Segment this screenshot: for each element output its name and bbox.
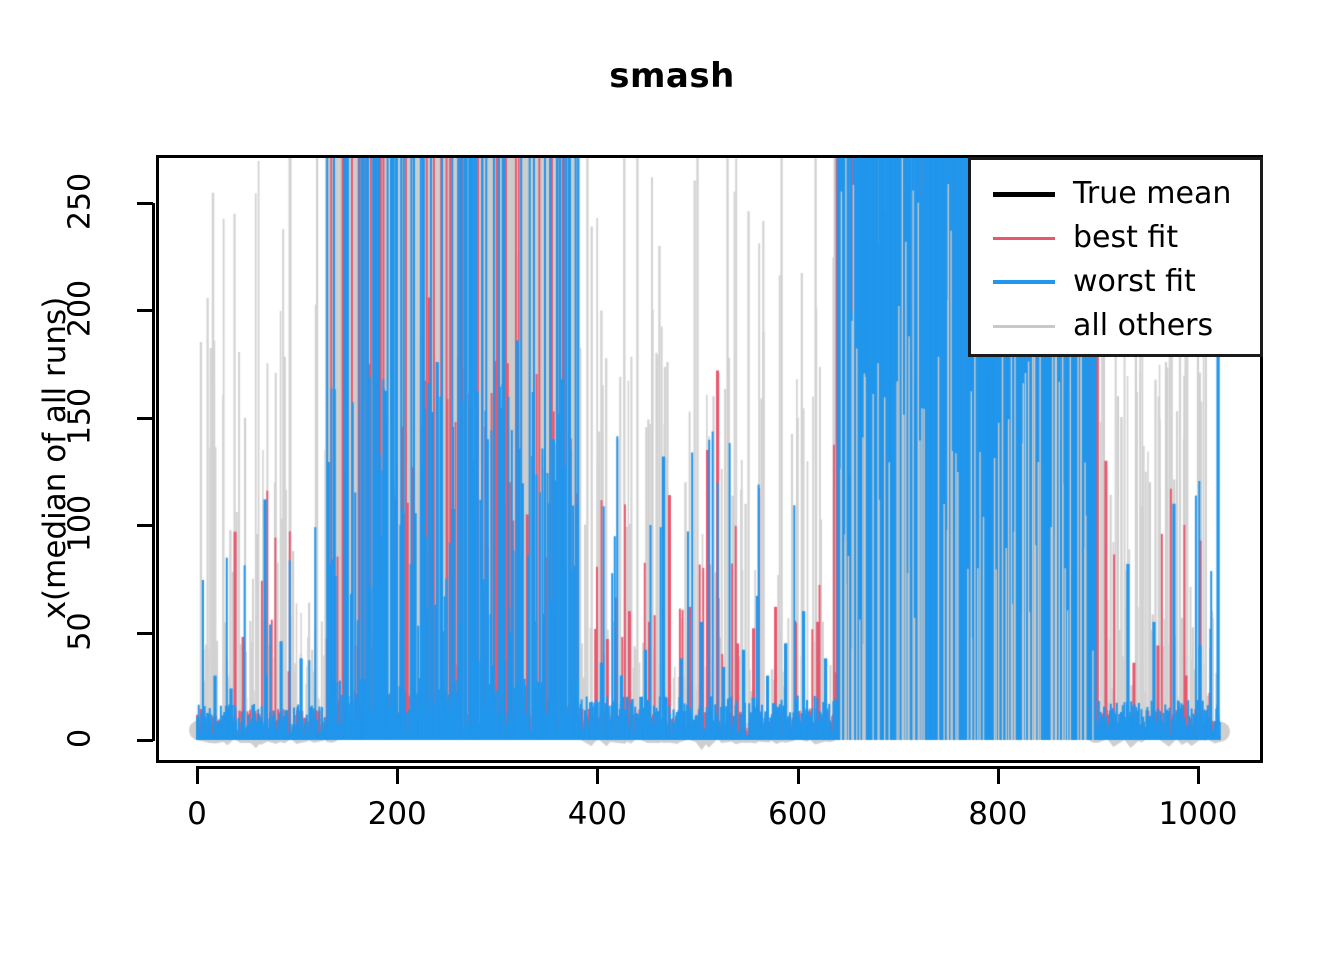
y-tick-label: 0	[63, 679, 98, 799]
y-tick	[137, 739, 153, 742]
legend-swatch-icon	[993, 237, 1055, 240]
x-tick-label: 1000	[1128, 796, 1268, 832]
legend-item-all-others: all others	[971, 304, 1260, 348]
y-axis-line	[152, 203, 155, 741]
x-tick	[997, 766, 1000, 784]
x-tick	[396, 766, 399, 784]
y-axis-title: x(median of all runs)	[37, 248, 73, 668]
y-tick	[137, 309, 153, 312]
x-tick	[797, 766, 800, 784]
x-tick	[596, 766, 599, 784]
x-tick-label: 200	[327, 796, 467, 832]
legend-swatch-icon	[993, 280, 1055, 284]
x-axis-line	[197, 766, 1199, 769]
chart-figure: smash 050100150200250 x(median of all ru…	[0, 0, 1344, 960]
x-tick	[1197, 766, 1200, 784]
legend-label: worst fit	[1073, 267, 1196, 297]
legend-label: True mean	[1073, 179, 1231, 209]
x-tick-label: 800	[928, 796, 1068, 832]
legend-label: best fit	[1073, 223, 1178, 253]
y-tick-label: 250	[63, 142, 98, 262]
x-tick-label: 600	[728, 796, 868, 832]
x-tick-label: 400	[527, 796, 667, 832]
legend-item-best-fit: best fit	[971, 216, 1260, 260]
legend-item-worst-fit: worst fit	[971, 260, 1260, 304]
x-tick	[196, 766, 199, 784]
legend-item-true-mean: True mean	[971, 172, 1260, 216]
page-title: smash	[0, 56, 1344, 96]
y-tick	[137, 202, 153, 205]
y-tick	[137, 524, 153, 527]
legend: True meanbest fitworst fitall others	[968, 157, 1263, 357]
legend-swatch-icon	[993, 192, 1055, 197]
y-tick	[137, 632, 153, 635]
legend-label: all others	[1073, 311, 1213, 341]
legend-swatch-icon	[993, 325, 1055, 328]
y-tick	[137, 417, 153, 420]
x-tick-label: 0	[127, 796, 267, 832]
